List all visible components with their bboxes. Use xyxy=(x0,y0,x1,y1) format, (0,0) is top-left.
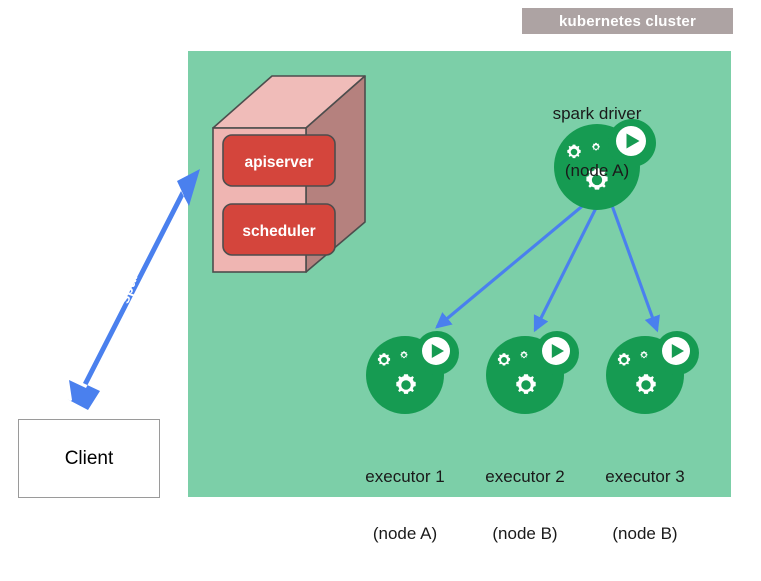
spark-driver-subtitle: (node A) xyxy=(517,161,677,180)
executor-3-title: executor 3 xyxy=(565,467,725,486)
executor-3-play-icon xyxy=(662,337,690,365)
client-box[interactable]: Client xyxy=(18,419,160,498)
executor-3-caption: executor 3 (node B) xyxy=(565,429,725,581)
executor-3-subtitle: (node B) xyxy=(565,524,725,543)
scheduler-label: scheduler xyxy=(242,223,315,240)
spark-driver-title: spark driver xyxy=(517,104,677,123)
executor-2-play-icon xyxy=(542,337,570,365)
diagram-canvas: apiserver scheduler kubernetes cluster s… xyxy=(0,0,761,516)
client-label: Client xyxy=(65,448,114,470)
kubernetes-cluster-badge: kubernetes cluster xyxy=(522,8,733,34)
kubernetes-cluster-badge-label: kubernetes cluster xyxy=(559,13,696,30)
apiserver-label: apiserver xyxy=(245,154,314,171)
executor-1-play-icon xyxy=(422,337,450,365)
spark-driver-caption: spark driver (node A) xyxy=(517,66,677,218)
